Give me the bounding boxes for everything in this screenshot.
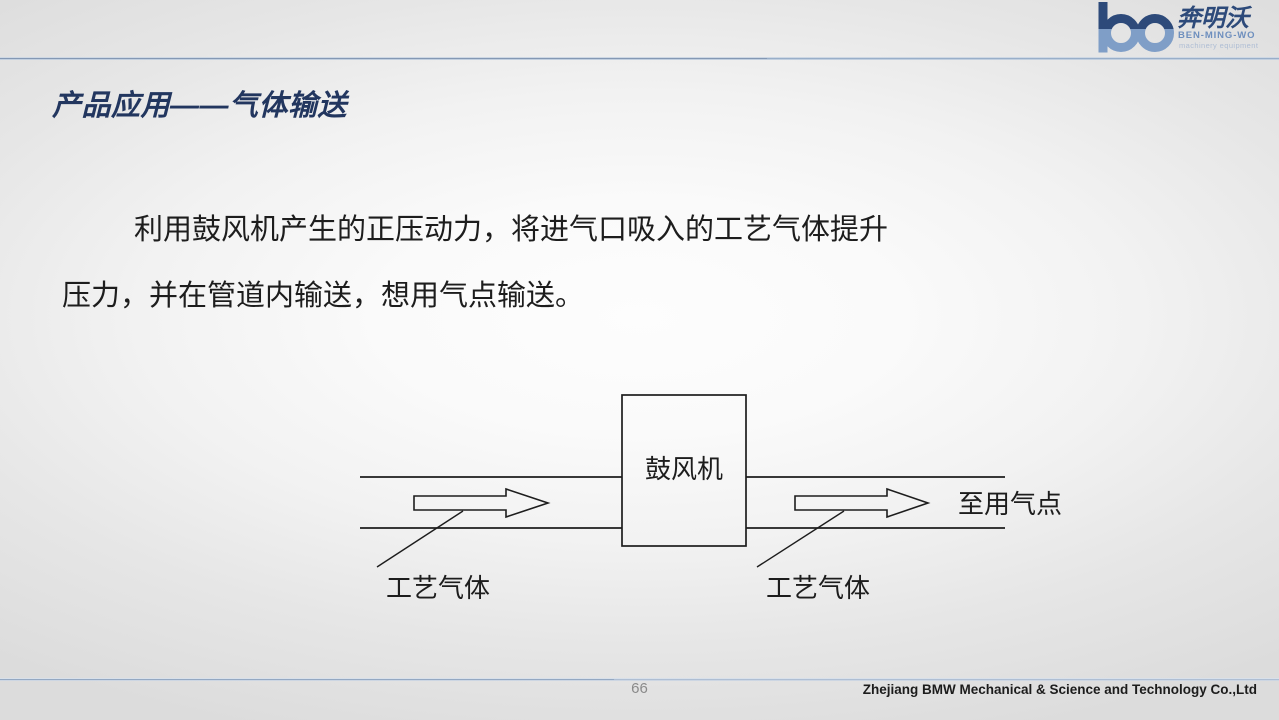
destination-label: 至用气点	[958, 490, 1062, 520]
outlet-flow-arrow	[795, 489, 928, 517]
header-divider	[0, 57, 1279, 60]
slide-canvas: 奔明沃 BEN-MING-WO machinery equipment 产品应用…	[0, 0, 1279, 720]
blower-box	[622, 395, 746, 546]
page-title: 产品应用——气体输送	[52, 82, 347, 124]
body-line-1: 利用鼓风机产生的正压动力，将进气口吸入的工艺气体提升	[134, 212, 888, 246]
logo-latin-name: BEN-MING-WO	[1178, 30, 1255, 41]
blower-box-label: 鼓风机	[645, 455, 723, 485]
inlet-leader-line	[377, 511, 463, 567]
footer-company-name: Zhejiang BMW Mechanical & Science and Te…	[863, 682, 1257, 697]
body-paragraph: 利用鼓风机产生的正压动力，将进气口吸入的工艺气体提升 压力，并在管道内输送，想用…	[62, 196, 1072, 328]
inlet-flow-arrow	[414, 489, 548, 517]
logo-tagline: machinery equipment	[1179, 41, 1259, 50]
logo-mark-bo	[1103, 6, 1170, 48]
logo-chinese-name: 奔明沃	[1177, 4, 1253, 32]
body-line-2: 压力，并在管道内输送，想用气点输送。	[62, 278, 584, 312]
company-logo: 奔明沃 BEN-MING-WO machinery equipment	[1097, 2, 1273, 54]
outlet-leader-line	[757, 511, 844, 567]
inlet-label: 工艺气体	[386, 574, 490, 604]
outlet-label: 工艺气体	[766, 574, 870, 604]
